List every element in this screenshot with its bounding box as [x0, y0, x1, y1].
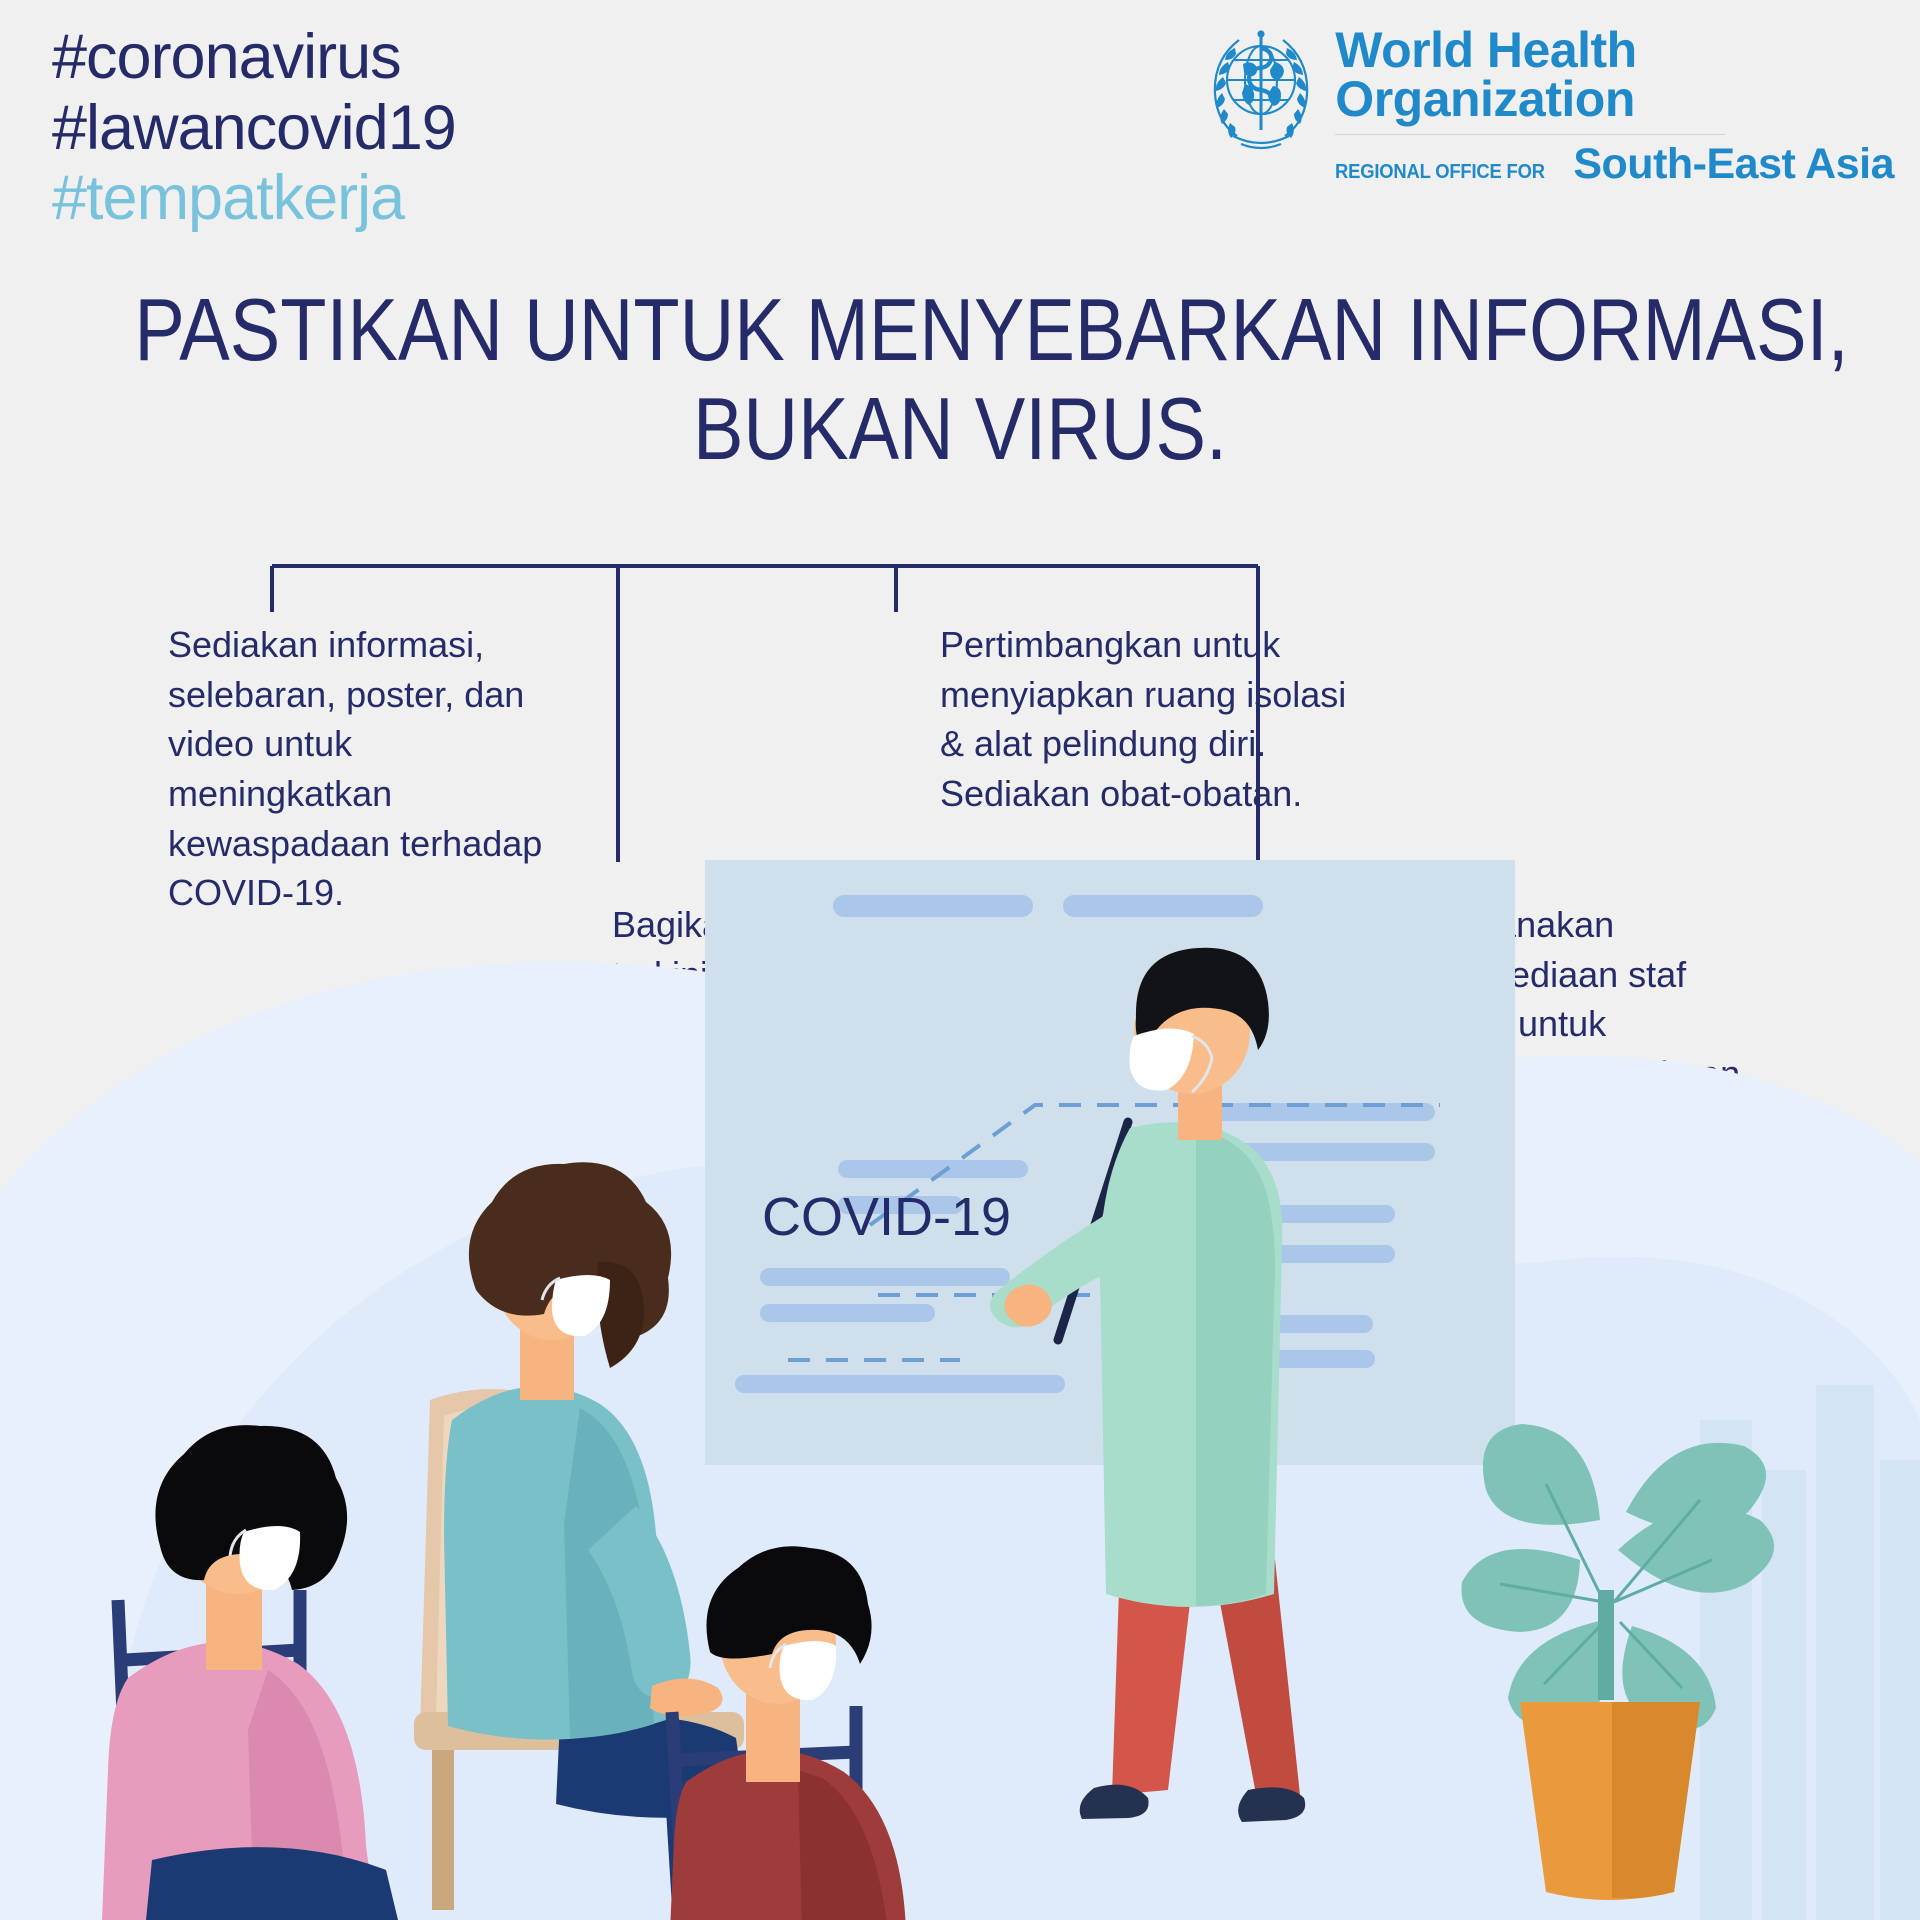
hashtag-lawancovid19: #lawancovid19: [52, 93, 456, 164]
who-emblem-icon: [1197, 18, 1325, 168]
hashtag-group: #coronavirus #lawancovid19 #tempatkerja: [52, 22, 456, 234]
hashtag-coronavirus: #coronavirus: [52, 22, 456, 93]
who-wordmark: World Health Organization REGIONAL OFFIC…: [1335, 18, 1894, 186]
region-name: South-East Asia: [1573, 143, 1894, 186]
board-label: COVID-19: [762, 1187, 1011, 1247]
regional-office-label: REGIONAL OFFICE FOR: [1335, 161, 1545, 184]
info-block-3: Pertimbangkan untuk menyiapkan ruang iso…: [940, 620, 1370, 819]
meeting-illustration: COVID-19: [0, 860, 1920, 1920]
who-name-line2: Organization: [1335, 75, 1894, 124]
who-logo: World Health Organization REGIONAL OFFIC…: [1197, 18, 1894, 186]
hashtag-tempatkerja: #tempatkerja: [52, 163, 456, 234]
headline-line-1: PASTIKAN UNTUK MENYEBARKAN INFORMASI,: [134, 280, 1785, 379]
who-divider: [1335, 134, 1725, 135]
page-title: PASTIKAN UNTUK MENYEBARKAN INFORMASI, BU…: [0, 280, 1920, 479]
who-name-line1: World Health: [1335, 26, 1894, 75]
poster-canvas: #coronavirus #lawancovid19 #tempatkerja: [0, 0, 1920, 1920]
headline-line-2: BUKAN VIRUS.: [134, 379, 1785, 478]
presenter-shoe-back: [1238, 1787, 1305, 1822]
who-region-row: REGIONAL OFFICE FOR South-East Asia: [1335, 143, 1894, 186]
